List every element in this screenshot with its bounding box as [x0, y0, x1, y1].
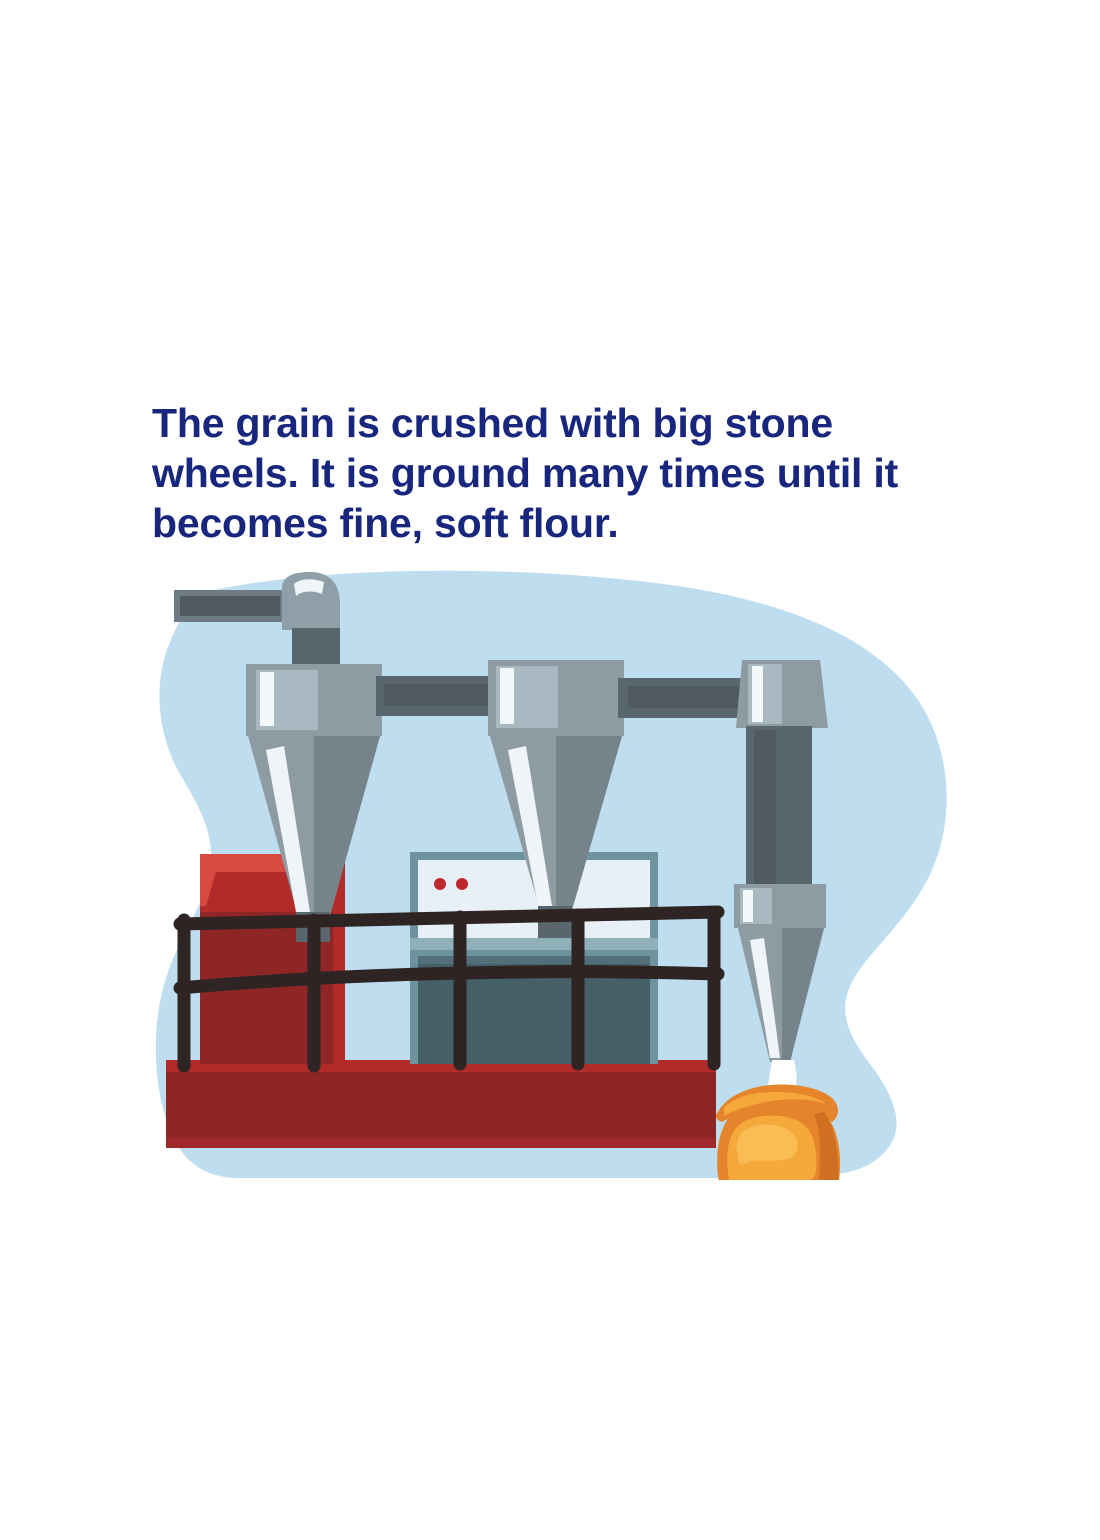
intake-pipe-inner [180, 596, 280, 616]
indicator-light-1 [434, 878, 446, 890]
intake-neck [292, 628, 340, 666]
nozzle-lower-joint-highlight [743, 890, 753, 922]
page-canvas: The grain is crushed with big stone whee… [0, 0, 1100, 1540]
funnel-middle-head-highlight [500, 668, 514, 724]
connector-beam-left-inner [384, 684, 488, 706]
flour-sack-group [716, 1085, 840, 1181]
connector-beam-left-group [376, 676, 494, 716]
nozzle-vertical-shaft-lower-inner [754, 806, 776, 890]
illustration-svg [118, 560, 998, 1180]
connector-beam-right-group [618, 678, 748, 718]
teal-tank-top-light [418, 956, 650, 964]
nozzle-top-joint-highlight [752, 666, 763, 722]
platform-base-group [166, 1060, 716, 1148]
platform-base-bottom-edge [166, 1138, 716, 1148]
indicator-light-2 [456, 878, 468, 890]
flour-sack-highlight [737, 1125, 798, 1165]
flour-mill-illustration [118, 560, 998, 1180]
page-title: The grain is crushed with big stone whee… [152, 398, 962, 548]
nozzle-vertical-shaft-inner [754, 730, 776, 818]
platform-base [166, 1060, 716, 1148]
connector-beam-right-inner [628, 686, 740, 708]
funnel-left-head-highlight [260, 672, 274, 726]
